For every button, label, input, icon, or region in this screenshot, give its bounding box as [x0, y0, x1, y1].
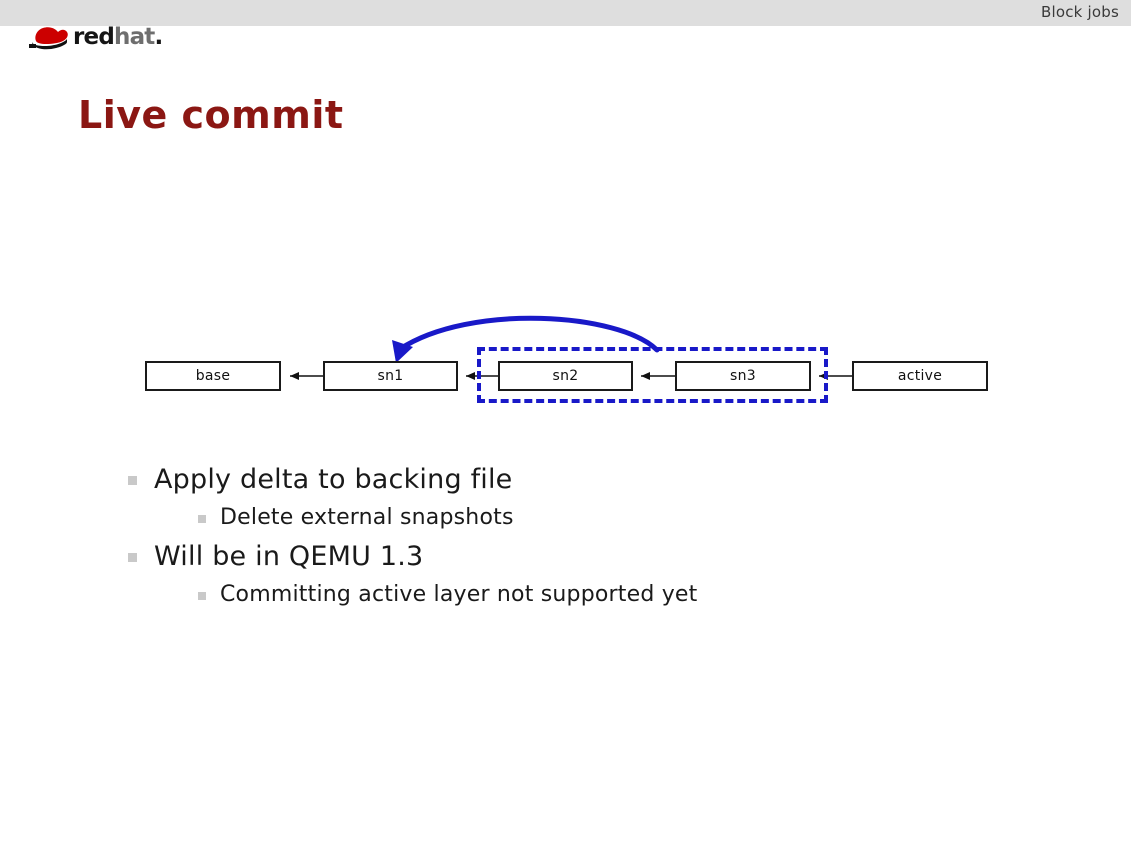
chain-node-label: sn1: [378, 368, 404, 384]
logo-word-hat: hat: [114, 24, 155, 50]
committed-range-highlight: [477, 347, 828, 403]
page-title: Live commit: [78, 93, 344, 137]
list-item: Will be in QEMU 1.3: [0, 539, 1131, 575]
header-band: [0, 0, 1131, 26]
list-item: Apply delta to backing file: [0, 462, 1131, 498]
list-item-label: Delete external snapshots: [220, 503, 514, 533]
list-item: Committing active layer not supported ye…: [0, 580, 1131, 610]
chain-node-label: active: [898, 368, 942, 384]
chain-node-label: base: [196, 368, 231, 384]
square-bullet-icon: [128, 476, 137, 485]
list-item: Delete external snapshots: [0, 503, 1131, 533]
chain-node-base[interactable]: base: [145, 361, 281, 391]
redhat-logo: redhat.: [26, 22, 162, 52]
square-bullet-icon: [128, 553, 137, 562]
logo-word-dot: .: [155, 24, 163, 50]
chain-node-label: sn2: [553, 368, 579, 384]
chain-node-sn1[interactable]: sn1: [323, 361, 458, 391]
commit-delta-arrow: [392, 318, 657, 363]
chain-node-sn2[interactable]: sn2: [498, 361, 633, 391]
square-bullet-icon: [198, 515, 206, 523]
logo-word-red: red: [73, 24, 114, 50]
list-item-label: Committing active layer not supported ye…: [220, 580, 697, 610]
chain-node-active[interactable]: active: [852, 361, 988, 391]
section-label: Block jobs: [1041, 3, 1119, 21]
redhat-shadowman-icon: [26, 24, 70, 50]
chain-node-sn3[interactable]: sn3: [675, 361, 811, 391]
bullet-list: Apply delta to backing file Delete exter…: [0, 462, 1131, 616]
list-item-label: Will be in QEMU 1.3: [154, 539, 423, 575]
list-item-label: Apply delta to backing file: [154, 462, 512, 498]
redhat-wordmark: redhat.: [73, 26, 162, 49]
chain-node-label: sn3: [730, 368, 756, 384]
square-bullet-icon: [198, 592, 206, 600]
